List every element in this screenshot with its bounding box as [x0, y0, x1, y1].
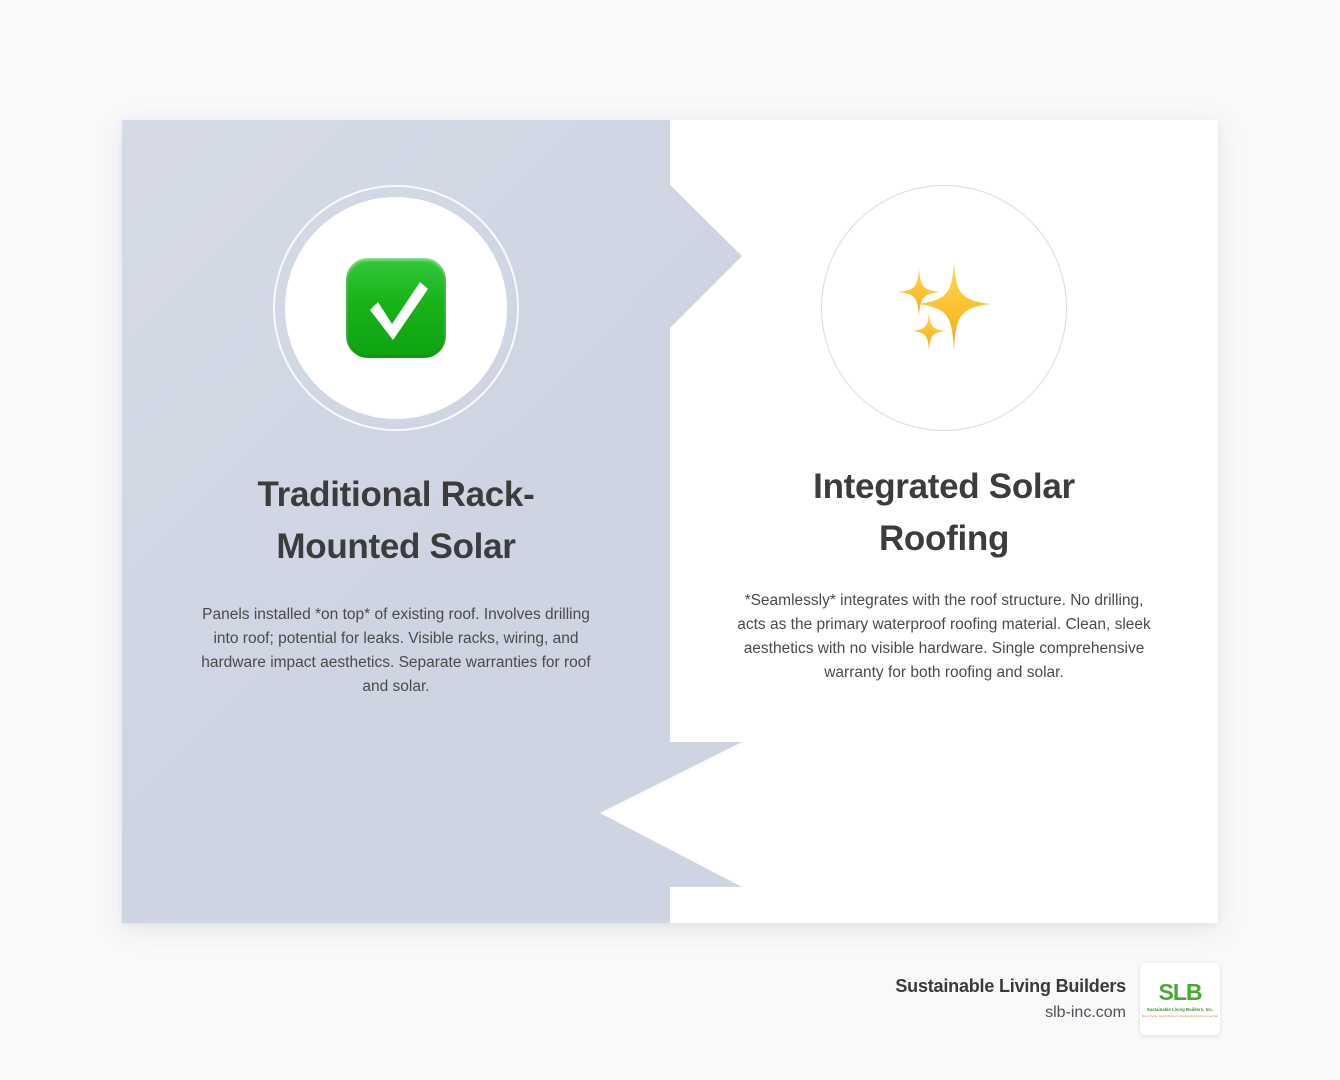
slb-logo: SLB Sustainable Living Builders, Inc. Ro…: [1140, 963, 1220, 1035]
traditional-title: Traditional Rack-Mounted Solar: [216, 469, 576, 573]
brand-text-block: Sustainable Living Builders slb-inc.com: [895, 976, 1126, 1022]
integrated-title: Integrated Solar Roofing: [774, 461, 1114, 565]
comparison-column-traditional: Traditional Rack-Mounted Solar Panels in…: [122, 120, 670, 923]
traditional-description: Panels installed *on top* of existing ro…: [196, 603, 596, 700]
logo-mark: SLB: [1159, 981, 1202, 1004]
company-name: Sustainable Living Builders: [895, 976, 1126, 997]
white-check-mark-icon: [334, 246, 458, 370]
infographic-canvas: Traditional Rack-Mounted Solar Panels in…: [0, 0, 1340, 1080]
footer-branding: Sustainable Living Builders slb-inc.com …: [895, 963, 1220, 1035]
integrated-description: *Seamlessly* integrates with the roof st…: [737, 589, 1151, 686]
logo-subtitle: Sustainable Living Builders, Inc.: [1147, 1007, 1213, 1012]
company-website[interactable]: slb-inc.com: [895, 1004, 1126, 1022]
comparison-card: Traditional Rack-Mounted Solar Panels in…: [122, 120, 1218, 923]
comparison-column-integrated: Integrated Solar Roofing *Seamlessly* in…: [670, 120, 1218, 923]
logo-tagline: Roof, Solar, Electrification, Residentia…: [1142, 1014, 1218, 1018]
sparkles-icon: [882, 246, 1006, 370]
traditional-icon-badge: [273, 185, 519, 431]
integrated-icon-badge: [821, 185, 1067, 431]
